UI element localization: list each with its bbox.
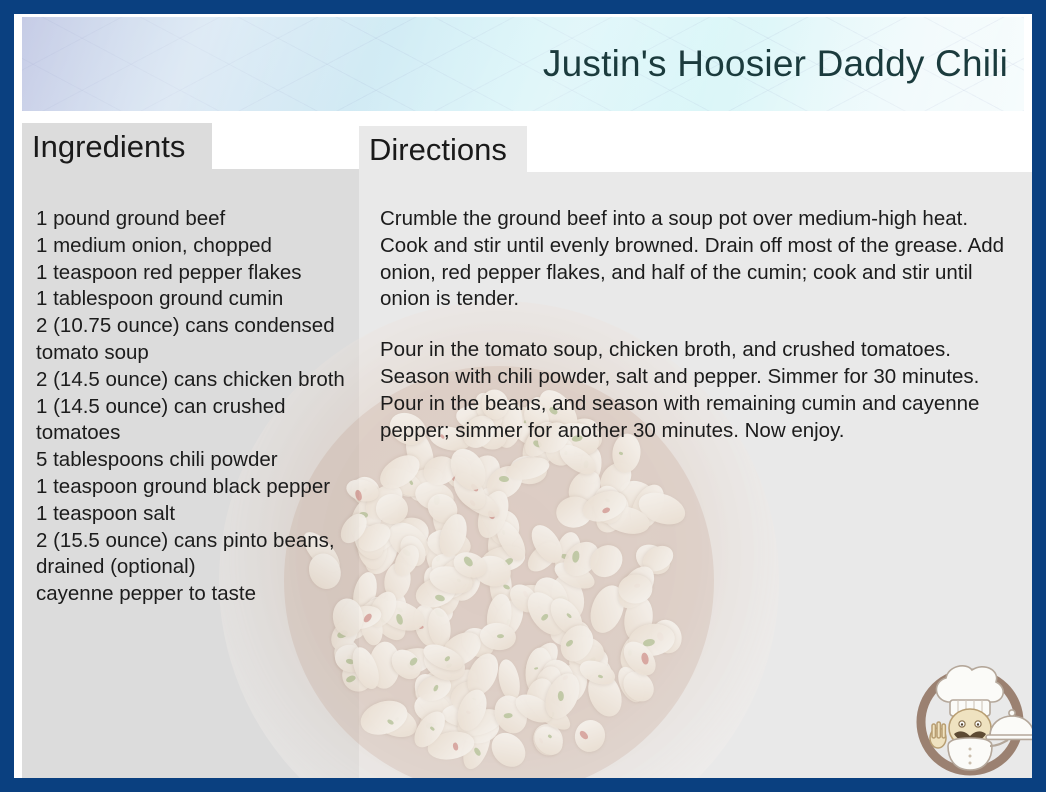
chef-mascot-logo xyxy=(904,650,1032,778)
ingredient-item: 2 (10.75 ounce) cans condensed tomato so… xyxy=(36,313,366,367)
ingredients-heading-tab: Ingredients xyxy=(22,123,212,169)
ingredient-item: cayenne pepper to taste xyxy=(36,581,366,608)
direction-paragraph: Pour in the tomato soup, chicken broth, … xyxy=(380,337,1012,444)
ingredient-item: 5 tablespoons chili powder xyxy=(36,447,366,474)
title-banner: Justin's Hoosier Daddy Chili xyxy=(22,17,1024,111)
card-inner-area: Justin's Hoosier Daddy Chili Ingredients… xyxy=(14,14,1032,778)
ingredient-item: 2 (14.5 ounce) cans chicken broth xyxy=(36,367,366,394)
ingredient-item: 1 tablespoon ground cumin xyxy=(36,286,366,313)
recipe-card-page: Justin's Hoosier Daddy Chili Ingredients… xyxy=(0,0,1046,792)
ingredients-list: 1 pound ground beef1 medium onion, chopp… xyxy=(36,206,366,608)
ingredient-item: 2 (15.5 ounce) cans pinto beans, drained… xyxy=(36,528,366,582)
ingredient-item: 1 medium onion, chopped xyxy=(36,233,366,260)
ingredient-item: 1 (14.5 ounce) can crushed tomatoes xyxy=(36,394,366,448)
ingredient-item: 1 teaspoon red pepper flakes xyxy=(36,260,366,287)
directions-heading-tab: Directions xyxy=(359,126,527,172)
direction-paragraph: Crumble the ground beef into a soup pot … xyxy=(380,206,1012,313)
directions-heading-label: Directions xyxy=(359,134,507,165)
ingredient-item: 1 teaspoon ground black pepper xyxy=(36,474,366,501)
page-title: Justin's Hoosier Daddy Chili xyxy=(543,43,1008,85)
ingredient-item: 1 teaspoon salt xyxy=(36,501,366,528)
directions-text: Crumble the ground beef into a soup pot … xyxy=(380,206,1012,444)
ingredients-heading-label: Ingredients xyxy=(22,131,185,162)
ingredient-item: 1 pound ground beef xyxy=(36,206,366,233)
